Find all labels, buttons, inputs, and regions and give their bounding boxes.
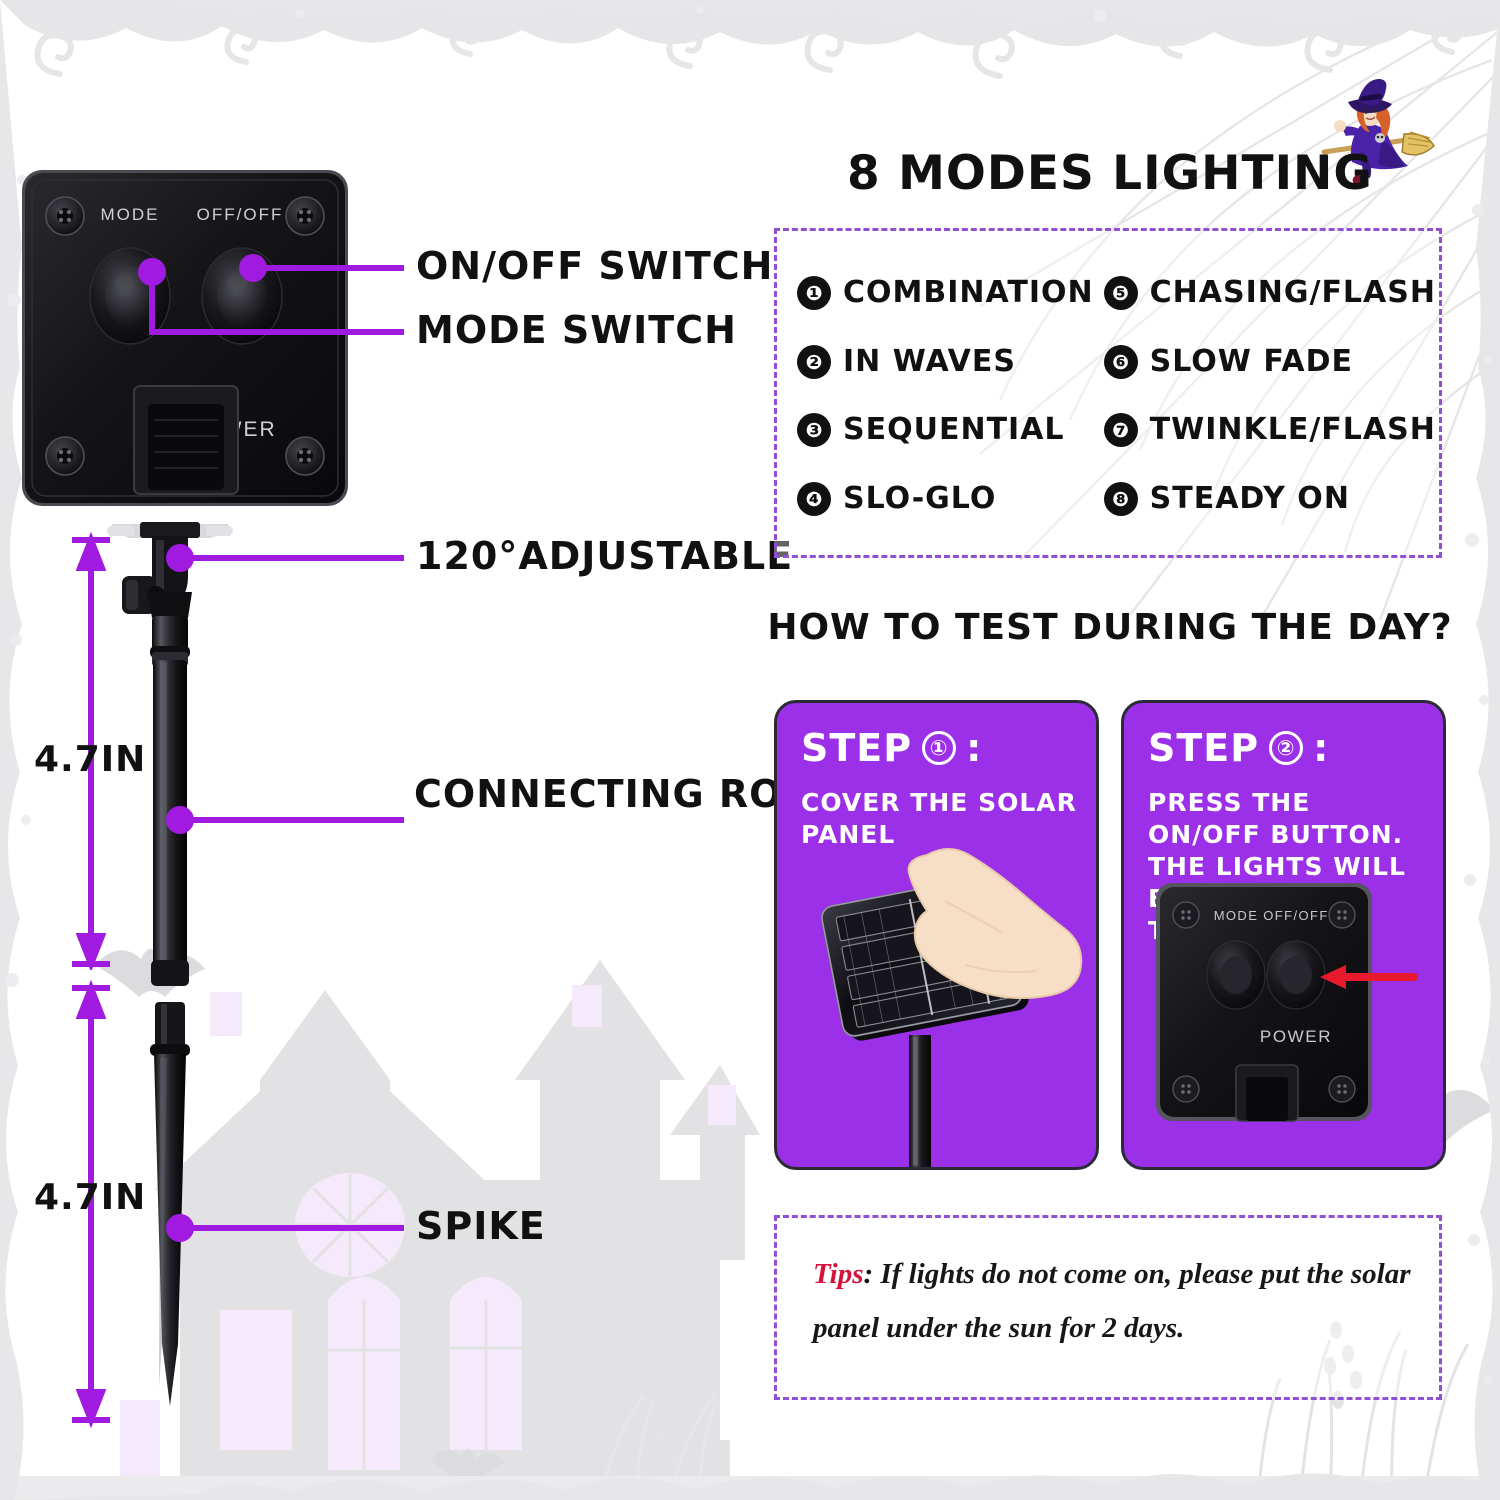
mode-item-2: ❷ IN WAVES xyxy=(797,328,1094,397)
step-card-2: STEP ② : PRESS THE ON/OFF BUTTON. THE LI… xyxy=(1121,700,1446,1170)
modes-grid: ❶ COMBINATION ❺ CHASING/FLASH ❷ IN WAVES… xyxy=(797,259,1425,533)
step-1-number-icon: ① xyxy=(922,731,956,765)
cover-panel-illustration xyxy=(777,837,1087,1167)
mode-number-icon: ❷ xyxy=(797,345,831,379)
dimension-label-spike: 4.7IN xyxy=(34,1180,146,1216)
steps-row: STEP ① : COVER THE SOLAR PANEL xyxy=(774,700,1446,1170)
step-2-heading: STEP ② : xyxy=(1148,729,1329,767)
mode-item-7: ❼ TWINKLE/FLASH xyxy=(1104,396,1436,465)
mode-number-icon: ❹ xyxy=(797,482,831,516)
mode-item-1: ❶ COMBINATION xyxy=(797,259,1094,328)
svg-text:OFF/OFF: OFF/OFF xyxy=(1263,908,1328,923)
solar-panel-back-unit: MODE OFF/OFF POWER xyxy=(20,168,350,508)
info-column: 8 MODES LIGHTING ❶ COMBINATION ❺ CHASING… xyxy=(760,0,1500,1500)
device-label-offoff: OFF/OFF xyxy=(197,205,284,224)
howto-title: HOW TO TEST DURING THE DAY? xyxy=(760,610,1460,646)
svg-text:POWER: POWER xyxy=(1260,1027,1332,1046)
mode-label: STEADY ON xyxy=(1150,484,1350,514)
step-1-colon: : xyxy=(966,729,982,767)
mode-label: IN WAVES xyxy=(843,347,1016,377)
screw xyxy=(46,197,84,235)
infographic-root: MODE OFF/OFF POWER xyxy=(0,0,1500,1500)
tips-sentence: : If lights do not come on, please put t… xyxy=(813,1258,1411,1344)
mode-item-3: ❸ SEQUENTIAL xyxy=(797,396,1094,465)
stake-assembly xyxy=(100,520,240,1430)
step-1-word: STEP xyxy=(801,729,912,767)
modes-title: 8 MODES LIGHTING xyxy=(760,150,1460,197)
modes-box: ❶ COMBINATION ❺ CHASING/FLASH ❷ IN WAVES… xyxy=(774,228,1442,558)
svg-text:MODE: MODE xyxy=(1214,908,1259,923)
tips-keyword: Tips xyxy=(813,1258,863,1290)
callout-120-adjustable: 120°ADJUSTABLE xyxy=(416,534,793,578)
tips-box: Tips: If lights do not come on, please p… xyxy=(774,1215,1442,1400)
mode-number-icon: ❻ xyxy=(1104,345,1138,379)
dimension-label-rod: 4.7IN xyxy=(34,742,146,778)
mode-item-8: ❽ STEADY ON xyxy=(1104,465,1436,534)
screw xyxy=(286,437,324,475)
tips-text: Tips: If lights do not come on, please p… xyxy=(813,1248,1411,1355)
mode-label: TWINKLE/FLASH xyxy=(1150,415,1436,445)
mode-number-icon: ❺ xyxy=(1104,276,1138,310)
mode-item-6: ❻ SLOW FADE xyxy=(1104,328,1436,397)
power-button[interactable] xyxy=(202,248,282,344)
step-2-number-icon: ② xyxy=(1269,731,1303,765)
step-2-word: STEP xyxy=(1148,729,1259,767)
callout-on-off-switch: ON/OFF SWITCH xyxy=(416,244,773,288)
step-card-1: STEP ① : COVER THE SOLAR PANEL xyxy=(774,700,1099,1170)
callout-connecting-rod: CONNECTING ROD xyxy=(414,772,714,817)
mode-number-icon: ❶ xyxy=(797,276,831,310)
callout-spike: SPIKE xyxy=(416,1204,546,1248)
mount-socket xyxy=(134,386,238,494)
mode-label: COMBINATION xyxy=(843,278,1094,308)
mode-label: SLOW FADE xyxy=(1150,347,1353,377)
mode-label: SEQUENTIAL xyxy=(843,415,1065,445)
mode-item-4: ❹ SLO-GLO xyxy=(797,465,1094,534)
mode-number-icon: ❸ xyxy=(797,413,831,447)
step-2-colon: : xyxy=(1313,729,1329,767)
mode-number-icon: ❼ xyxy=(1104,413,1138,447)
callout-mode-switch: MODE SWITCH xyxy=(416,308,737,352)
mode-label: CHASING/FLASH xyxy=(1150,278,1436,308)
product-diagram-column: MODE OFF/OFF POWER xyxy=(0,0,760,1500)
mode-number-icon: ❽ xyxy=(1104,482,1138,516)
press-button-illustration: MODE OFF/OFF POWER xyxy=(1124,837,1434,1167)
step-1-heading: STEP ① : xyxy=(801,729,982,767)
mode-button[interactable] xyxy=(90,248,170,344)
screw xyxy=(286,197,324,235)
screw xyxy=(46,437,84,475)
mode-item-5: ❺ CHASING/FLASH xyxy=(1104,259,1436,328)
mode-label: SLO-GLO xyxy=(843,484,996,514)
device-label-mode: MODE xyxy=(101,205,160,224)
